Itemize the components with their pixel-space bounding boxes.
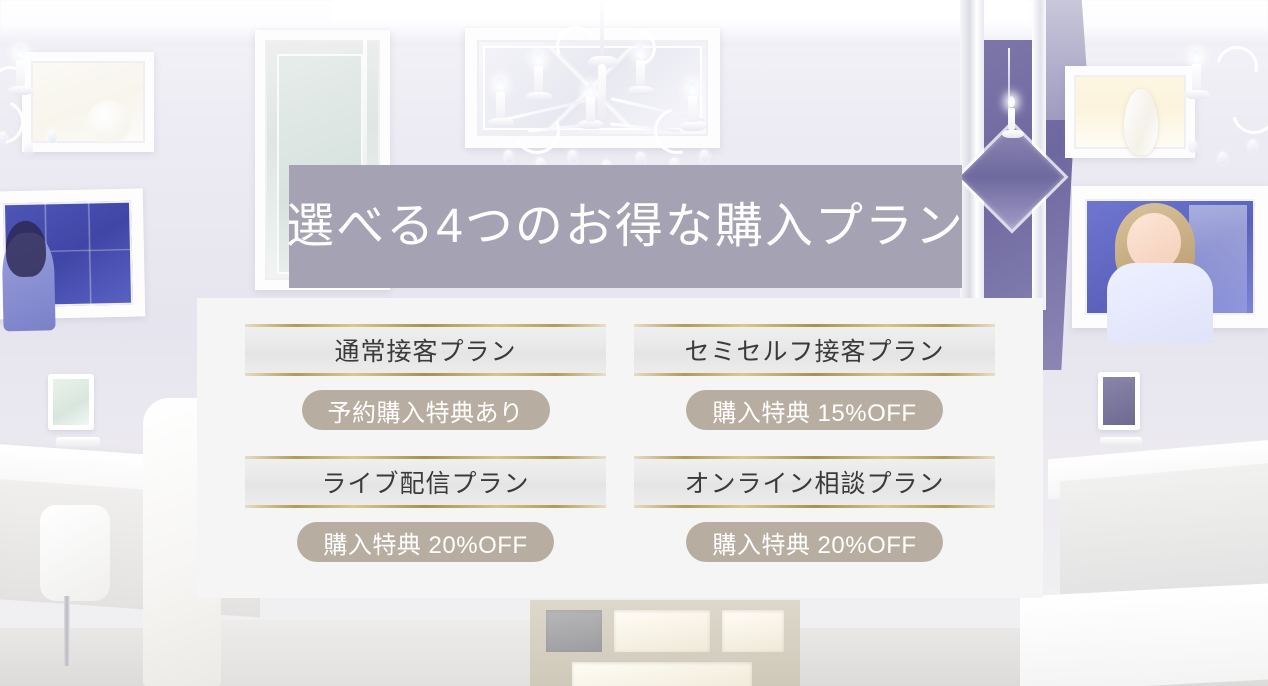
chandelier-candle (496, 92, 505, 118)
plan-benefit-label: 購入特典 20%OFF (712, 525, 916, 560)
chandelier-flame (534, 52, 543, 65)
white-vase (1124, 89, 1158, 155)
mirror-column-left (960, 0, 984, 300)
wall-sconce-right (1178, 28, 1268, 188)
vanity-mirror-right (1098, 372, 1140, 430)
framed-niche-with-vase (1065, 66, 1195, 158)
vanity-mirror-left (48, 374, 94, 430)
chandelier-crystal (700, 150, 709, 163)
sconce-crystal (1218, 152, 1227, 165)
plan-title-box[interactable]: 通常接客プラン (245, 324, 606, 376)
sconce-crystal (1248, 140, 1257, 153)
chandelier-flame (636, 46, 645, 59)
wall-sconce-left (0, 24, 106, 174)
chandelier-candle (534, 66, 543, 92)
sconce-crystal (24, 142, 33, 155)
plan-benefit-badge: 購入特典 20%OFF (686, 522, 942, 562)
wall-sconce-accent (996, 86, 1056, 176)
vanity-mirror-base-right (1100, 437, 1142, 446)
shelf-towel (572, 662, 752, 686)
crystal-chandelier (470, 0, 740, 175)
chandelier-candle-cup (526, 92, 552, 101)
chandelier-candle-cup (628, 86, 654, 95)
display-screen-right (1072, 186, 1268, 328)
salon-chair-leg (64, 596, 70, 666)
chandelier-body (598, 64, 606, 126)
sconce-candle-cup (1002, 130, 1024, 138)
sconce-candle (1008, 108, 1015, 130)
plan-benefit-label: 予約購入特典あり (328, 393, 524, 428)
plans-card: 通常接客プラン 予約購入特典あり セミセルフ接客プラン 購入特典 15%OFF … (197, 298, 1043, 598)
display-screen-left (0, 188, 145, 319)
title-banner: 選べる4つのお得な購入プラン (289, 165, 962, 288)
sconce-candle (1192, 64, 1201, 90)
plan-title-box[interactable]: セミセルフ接客プラン (634, 324, 995, 376)
shelf-towel (722, 610, 784, 652)
salon-counter-front (1020, 584, 1268, 686)
chandelier-candle (636, 60, 645, 86)
chandelier-stem (600, 0, 604, 60)
screen-person-body-right (1107, 263, 1213, 343)
vanity-mirror-base-left (56, 437, 100, 447)
chandelier-candle-cup (488, 118, 514, 127)
chandelier-candle-cup (680, 122, 706, 131)
sconce-candle-cup (1184, 90, 1210, 99)
sconce-scrollwork (1224, 82, 1268, 142)
plan-name: オンライン相談プラン (684, 464, 944, 500)
plan-title-box[interactable]: ライブ配信プラン (245, 456, 606, 508)
sconce-flame (1192, 50, 1201, 63)
shelf-towel (614, 610, 710, 652)
chandelier-flame (586, 84, 595, 97)
plan-item[interactable]: セミセルフ接客プラン 購入特典 15%OFF (634, 324, 995, 430)
plan-name: 通常接客プラン (334, 332, 516, 368)
sconce-crystal (1188, 140, 1197, 153)
chandelier-scrollwork (508, 102, 567, 161)
towel-shelf-unit (530, 600, 800, 686)
plan-item[interactable]: 通常接客プラン 予約購入特典あり (245, 324, 606, 430)
plan-grid: 通常接客プラン 予約購入特典あり セミセルフ接客プラン 購入特典 15%OFF … (245, 324, 995, 562)
plan-item[interactable]: オンライン相談プラン 購入特典 20%OFF (634, 456, 995, 562)
plan-benefit-label: 購入特典 15%OFF (712, 393, 916, 428)
sconce-candle (16, 60, 25, 86)
chandelier-flame (496, 78, 505, 91)
sconce-crystal (48, 130, 57, 143)
chandelier-candle (688, 96, 697, 122)
plan-name: ライブ配信プラン (321, 464, 529, 500)
sconce-candle-cup (8, 86, 34, 95)
chandelier-crystal (504, 150, 513, 163)
sconce-scrollwork (1208, 38, 1265, 95)
shelf-slot-empty (546, 610, 602, 652)
chandelier-crystal (568, 150, 577, 163)
chandelier-flame (688, 82, 697, 95)
plan-benefit-badge: 購入特典 15%OFF (686, 390, 942, 430)
chandelier-crystal (636, 152, 645, 165)
page-title: 選べる4つのお得な購入プラン (286, 203, 965, 251)
screen-person-hair (5, 220, 46, 277)
sconce-flame (1008, 96, 1015, 107)
plan-benefit-badge: 購入特典 20%OFF (297, 522, 553, 562)
plan-title-box[interactable]: オンライン相談プラン (634, 456, 995, 508)
plan-benefit-badge: 予約購入特典あり (302, 390, 550, 430)
sconce-flame (16, 46, 25, 59)
plan-benefit-label: 購入特典 20%OFF (323, 525, 527, 560)
plan-name: セミセルフ接客プラン (684, 332, 944, 368)
chandelier-candle (586, 96, 595, 122)
plan-item[interactable]: ライブ配信プラン 購入特典 20%OFF (245, 456, 606, 562)
salon-chair-left (40, 505, 110, 601)
